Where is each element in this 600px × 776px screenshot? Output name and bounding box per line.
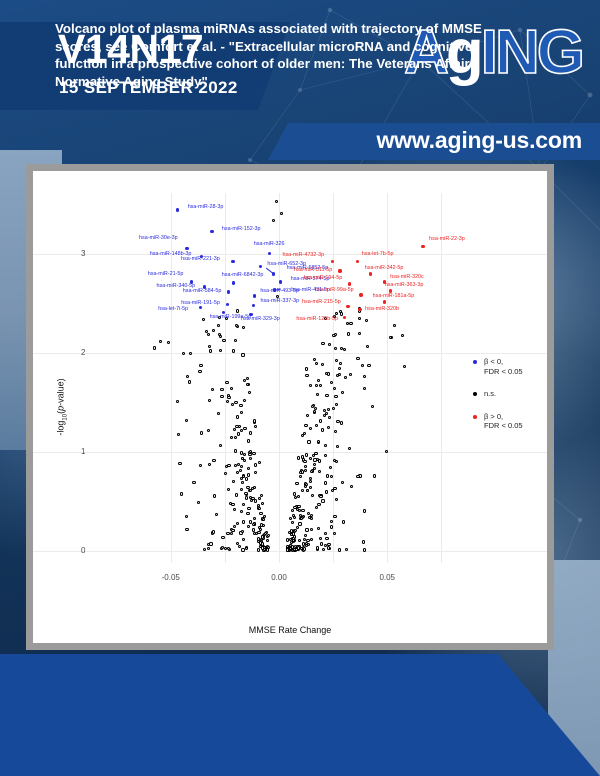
data-point-ns [225, 465, 228, 468]
data-point-ns [321, 499, 324, 502]
legend-item[interactable]: β > 0, FDR < 0.05 [473, 412, 551, 431]
data-point-ns [297, 505, 300, 508]
data-point-label: hsa-miR-4732-3p [282, 252, 324, 258]
data-point-ns [236, 309, 239, 312]
data-point-ns [309, 486, 312, 489]
data-point-ns [293, 506, 296, 509]
data-point-ns [211, 388, 214, 391]
data-point-ns [254, 463, 257, 466]
legend-item[interactable]: n.s. [473, 389, 551, 399]
x-tick-label: 0.00 [267, 573, 291, 582]
data-point-label: hsa-miR-337-3p [260, 298, 299, 304]
data-point-ns [208, 345, 211, 348]
data-point-ns [344, 376, 347, 379]
data-point-ns [335, 359, 338, 362]
data-point-ns [167, 341, 170, 344]
data-point-ns [330, 520, 333, 523]
data-point-ns [309, 457, 312, 460]
data-point-ns [304, 534, 307, 537]
data-point-ns [324, 481, 327, 484]
data-point-label: hsa-miR-125b-5p [296, 316, 338, 322]
data-point-ns [335, 498, 338, 501]
legend-label: β < 0, FDR < 0.05 [484, 357, 523, 376]
data-point-ns [272, 219, 275, 222]
data-point-ns [219, 349, 222, 352]
data-point-ns [236, 522, 239, 525]
data-point-ns [324, 532, 327, 535]
data-point-ns [330, 525, 333, 528]
data-point-ns [177, 433, 180, 436]
data-point-ns [243, 427, 246, 430]
data-point-ns [307, 440, 310, 443]
logo-letters-ing: ING [481, 18, 582, 87]
data-point-ns [321, 363, 324, 366]
data-point-ns [349, 322, 352, 325]
data-point-ns [324, 444, 327, 447]
data-point-ns [371, 405, 374, 408]
gridline-vertical [333, 193, 334, 563]
data-point-ns [261, 535, 264, 538]
data-point-label: hsa-miR-342-5p [365, 265, 404, 271]
data-point-ns [249, 457, 252, 460]
data-point-significant[interactable] [343, 316, 346, 319]
data-point-ns [242, 326, 245, 329]
data-point-ns [290, 533, 293, 536]
data-point-significant[interactable] [199, 306, 202, 309]
data-point-ns [262, 518, 265, 521]
data-point-ns [305, 483, 308, 486]
data-point-ns [185, 528, 188, 531]
gridline-vertical [171, 193, 172, 563]
data-point-ns [182, 352, 185, 355]
data-point-ns [350, 485, 353, 488]
x-tick-label: -0.05 [159, 573, 183, 582]
data-point-significant[interactable] [176, 208, 179, 211]
data-point-ns [227, 488, 230, 491]
data-point-ns [254, 425, 257, 428]
data-point-ns [202, 318, 205, 321]
data-point-significant[interactable] [369, 272, 372, 275]
data-point-ns [304, 424, 307, 427]
data-point-ns [336, 374, 339, 377]
data-point-ns [301, 489, 304, 492]
data-point-label: hsa-miR-511-5p [294, 267, 332, 273]
data-point-significant[interactable] [231, 260, 234, 263]
y-tick-label: 1 [81, 447, 85, 456]
data-point-ns [347, 332, 350, 335]
data-point-ns [316, 393, 319, 396]
data-point-significant[interactable] [346, 305, 349, 308]
data-point-label: hsa-miR-584-5p [183, 288, 222, 294]
data-point-label: hsa-miR-320c [390, 274, 424, 280]
data-point-ns [186, 375, 189, 378]
data-point-ns [226, 532, 229, 535]
data-point-ns [239, 469, 242, 472]
data-point-ns [289, 517, 292, 520]
data-point-ns [334, 430, 337, 433]
data-point-ns [303, 547, 306, 550]
data-point-ns [240, 451, 243, 454]
data-point-ns [212, 329, 215, 332]
data-point-ns [310, 528, 313, 531]
data-point-ns [243, 459, 246, 462]
gridline-vertical [279, 193, 280, 563]
journal-url[interactable]: www.aging-us.com [376, 127, 582, 154]
data-point-ns [310, 538, 313, 541]
data-point-ns [257, 548, 260, 551]
data-point-ns [241, 548, 244, 551]
data-point-ns [159, 340, 162, 343]
data-point-significant[interactable] [185, 247, 188, 250]
data-point-ns [365, 319, 368, 322]
data-point-ns [242, 503, 245, 506]
data-point-significant[interactable] [356, 260, 359, 263]
data-point-ns [243, 399, 246, 402]
data-point-ns [233, 508, 236, 511]
data-point-ns [361, 364, 364, 367]
data-point-ns [291, 521, 294, 524]
data-point-ns [304, 465, 307, 468]
data-point-ns [233, 525, 236, 528]
data-point-ns [319, 419, 322, 422]
data-point-ns [215, 513, 218, 516]
data-point-ns [267, 546, 270, 549]
data-point-ns [291, 509, 294, 512]
data-point-label: hsa-miR-181a-5p [373, 293, 415, 299]
data-point-ns [240, 488, 243, 491]
data-point-ns [232, 349, 235, 352]
data-point-label: hsa-miR-6842-3p [222, 272, 264, 278]
data-point-ns [247, 473, 250, 476]
data-point-significant[interactable] [421, 245, 424, 248]
data-point-ns [297, 456, 300, 459]
y-tick-label: 2 [81, 348, 85, 357]
legend-label: n.s. [484, 389, 496, 399]
data-point-ns [258, 497, 261, 500]
data-point-ns [321, 428, 324, 431]
data-point-ns [245, 477, 248, 480]
data-point-ns [338, 367, 341, 370]
data-point-ns [286, 548, 289, 551]
data-point-ns [338, 548, 341, 551]
data-point-ns [311, 494, 314, 497]
data-point-ns [260, 494, 263, 497]
data-point-ns [366, 345, 369, 348]
data-point-ns [327, 426, 330, 429]
data-point-ns [318, 470, 321, 473]
data-point-ns [334, 347, 337, 350]
data-point-ns [212, 530, 215, 533]
y-axis-title: -log10(p-value) [56, 347, 69, 467]
data-point-ns [320, 542, 323, 545]
data-point-ns [198, 370, 201, 373]
data-point-ns [267, 534, 270, 537]
legend-item[interactable]: β < 0, FDR < 0.05 [473, 357, 551, 376]
data-point-ns [252, 452, 255, 455]
data-point-ns [230, 436, 233, 439]
data-point-significant[interactable] [253, 294, 256, 297]
data-point-significant[interactable] [252, 304, 255, 307]
data-point-label: hsa-let-7i-5p [158, 306, 188, 312]
data-point-ns [303, 432, 306, 435]
data-point-ns [247, 439, 250, 442]
data-point-ns [207, 547, 210, 550]
data-point-label: hsa-miR-152-3p [222, 226, 261, 232]
data-point-ns [296, 526, 299, 529]
data-point-ns [328, 343, 331, 346]
data-point-ns [197, 501, 200, 504]
data-point-ns [303, 460, 306, 463]
data-point-ns [180, 492, 183, 495]
data-point-ns [299, 475, 302, 478]
data-point-ns [247, 525, 250, 528]
data-point-ns [356, 475, 359, 478]
data-point-ns [225, 381, 228, 384]
data-point-ns [185, 515, 188, 518]
data-point-ns [309, 480, 312, 483]
gridline-vertical [387, 193, 388, 563]
data-point-significant[interactable] [338, 269, 341, 272]
data-point-label: hsa-miR-221-3p [181, 256, 220, 262]
data-point-ns [348, 447, 351, 450]
data-point-significant[interactable] [383, 300, 386, 303]
data-point-ns [306, 414, 309, 417]
data-point-ns [248, 391, 251, 394]
data-point-ns [176, 400, 179, 403]
data-point-ns [245, 547, 248, 550]
data-point-label: hsa-miR-326 [254, 241, 285, 247]
data-point-ns [240, 510, 243, 513]
data-point-ns [340, 312, 343, 315]
data-point-ns [189, 352, 192, 355]
data-point-ns [305, 528, 308, 531]
data-point-ns [325, 490, 328, 493]
data-point-ns [254, 499, 257, 502]
data-point-ns [362, 540, 365, 543]
data-point-significant[interactable] [359, 293, 362, 296]
data-point-ns [209, 349, 212, 352]
data-point-ns [230, 387, 233, 390]
data-point-ns [403, 365, 406, 368]
data-point-ns [349, 373, 352, 376]
data-point-ns [220, 388, 223, 391]
chart-legend: β < 0, FDR < 0.05n.s.β > 0, FDR < 0.05 [473, 357, 551, 444]
data-point-ns [328, 416, 331, 419]
data-point-ns [241, 481, 244, 484]
data-point-ns [305, 374, 308, 377]
data-point-ns [234, 401, 237, 404]
data-point-ns [249, 431, 252, 434]
data-point-ns [333, 515, 336, 518]
data-point-significant[interactable] [232, 281, 235, 284]
data-point-ns [334, 333, 337, 336]
data-point-significant[interactable] [358, 308, 361, 311]
data-point-ns [401, 334, 404, 337]
figure-panel: 0123-0.050.000.05hsa-miR-28-3phsa-miR-15… [33, 171, 547, 643]
y-tick-label: 3 [81, 249, 85, 258]
data-point-ns [327, 543, 330, 546]
data-point-ns [259, 512, 262, 515]
data-point-ns [294, 529, 297, 532]
data-point-ns [280, 212, 283, 215]
data-point-ns [315, 424, 318, 427]
caption-band [0, 654, 600, 776]
data-point-ns [363, 509, 366, 512]
data-point-ns [317, 379, 320, 382]
data-point-label: hsa-miR-194-5p [304, 275, 343, 281]
data-point-label: hsa-miR-99a-5p [315, 287, 354, 293]
y-tick-label: 0 [81, 546, 85, 555]
data-point-ns [239, 404, 242, 407]
data-point-ns [241, 530, 244, 533]
data-point-ns [313, 358, 316, 361]
data-point-ns [312, 454, 315, 457]
data-point-label: hsa-miR-320b [365, 306, 399, 312]
data-point-label: hsa-miR-30e-3p [139, 235, 178, 241]
data-point-ns [335, 403, 338, 406]
gridline-vertical [225, 193, 226, 563]
data-point-ns [153, 346, 156, 349]
data-point-ns [246, 377, 249, 380]
data-point-ns [325, 372, 328, 375]
data-point-significant[interactable] [259, 265, 262, 268]
data-point-ns [332, 407, 335, 410]
data-point-ns [212, 459, 215, 462]
data-point-ns [224, 472, 227, 475]
data-point-ns [249, 489, 252, 492]
data-point-ns [363, 387, 366, 390]
data-point-ns [219, 444, 222, 447]
data-point-ns [231, 403, 234, 406]
data-point-ns [305, 367, 308, 370]
data-point-ns [227, 394, 230, 397]
data-point-ns [258, 461, 261, 464]
data-point-ns [318, 459, 321, 462]
data-point-ns [309, 427, 312, 430]
data-point-ns [266, 539, 269, 542]
data-point-ns [252, 523, 255, 526]
data-point-ns [226, 400, 229, 403]
data-point-ns [188, 380, 191, 383]
data-point-label: hsa-miR-329-3p [241, 316, 280, 322]
gridline-vertical [441, 193, 442, 563]
data-point-ns [295, 482, 298, 485]
legend-marker-icon [473, 392, 477, 396]
data-point-ns [389, 336, 392, 339]
data-point-ns [325, 394, 328, 397]
data-point-ns [333, 487, 336, 490]
data-point-significant[interactable] [226, 303, 229, 306]
data-point-ns [220, 395, 223, 398]
data-point-label: hsa-miR-21-5p [148, 271, 184, 277]
data-point-ns [300, 517, 303, 520]
data-point-ns [340, 421, 343, 424]
data-point-ns [334, 395, 337, 398]
data-point-ns [385, 450, 388, 453]
data-point-ns [309, 384, 312, 387]
data-point-ns [232, 480, 235, 483]
data-point-ns [393, 324, 396, 327]
data-point-ns [319, 495, 322, 498]
data-point-ns [306, 489, 309, 492]
data-point-ns [315, 506, 318, 509]
data-point-ns [321, 342, 324, 345]
data-point-ns [341, 481, 344, 484]
data-point-ns [207, 333, 210, 336]
data-point-ns [233, 428, 236, 431]
data-point-ns [313, 467, 316, 470]
data-point-ns [324, 454, 327, 457]
data-point-ns [333, 532, 336, 535]
data-point-ns [317, 527, 320, 530]
data-point-ns [341, 391, 344, 394]
data-point-ns [213, 494, 216, 497]
data-point-ns [315, 384, 318, 387]
data-point-ns [358, 317, 361, 320]
data-point-ns [298, 539, 301, 542]
data-point-ns [234, 464, 237, 467]
data-point-ns [234, 436, 237, 439]
data-point-ns [319, 384, 322, 387]
data-point-ns [247, 467, 250, 470]
data-point-ns [253, 419, 256, 422]
data-point-significant[interactable] [348, 282, 351, 285]
x-axis-title: MMSE Rate Change [33, 625, 547, 635]
data-point-ns [250, 499, 253, 502]
data-point-ns [234, 339, 237, 342]
data-point-ns [200, 431, 203, 434]
data-point-ns [373, 474, 376, 477]
data-point-ns [222, 339, 225, 342]
data-point-ns [253, 517, 256, 520]
data-point-ns [208, 399, 211, 402]
data-point-ns [199, 364, 202, 367]
data-point-ns [323, 414, 326, 417]
data-point-ns [240, 465, 243, 468]
data-point-ns [275, 200, 278, 203]
data-point-label: hsa-miR-22-3p [429, 236, 465, 242]
data-point-ns [238, 425, 241, 428]
data-point-ns [327, 408, 330, 411]
data-point-ns [325, 537, 328, 540]
data-point-ns [235, 493, 238, 496]
figure-caption: Volcano plot of plasma miRNAs associated… [55, 20, 485, 90]
data-point-ns [336, 445, 339, 448]
data-point-ns [343, 348, 346, 351]
data-point-ns [290, 541, 293, 544]
data-point-significant[interactable] [331, 260, 334, 263]
data-point-ns [245, 496, 248, 499]
gridline-horizontal [33, 353, 547, 354]
legend-marker-icon [473, 415, 477, 419]
data-point-significant[interactable] [227, 290, 230, 293]
x-tick-label: 0.05 [375, 573, 399, 582]
data-point-ns [298, 522, 301, 525]
data-point-ns [242, 538, 245, 541]
data-point-ns [363, 375, 366, 378]
data-point-ns [322, 548, 325, 551]
data-point-significant[interactable] [210, 230, 213, 233]
data-point-ns [244, 492, 247, 495]
data-point-ns [301, 509, 304, 512]
data-point-label: hsa-let-7b-5p [362, 251, 394, 257]
data-point-ns [313, 463, 316, 466]
data-point-ns [297, 495, 300, 498]
data-point-ns [199, 464, 202, 467]
data-point-ns [258, 526, 261, 529]
data-point-ns [209, 542, 212, 545]
data-point-significant[interactable] [279, 280, 282, 283]
